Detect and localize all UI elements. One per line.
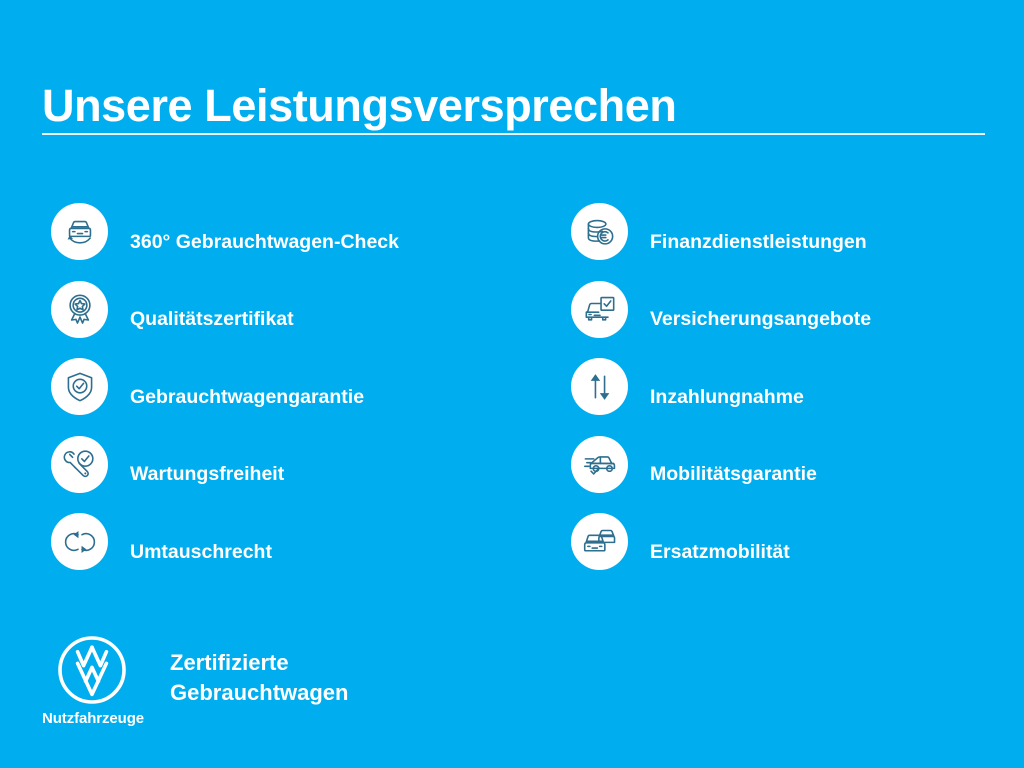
promise-item: Ersatzmobilität <box>571 513 1011 591</box>
brand-lockup: Nutzfahrzeuge Zertifizierte Gebrauchtwag… <box>42 634 642 744</box>
promise-label: Mobilitätsgarantie <box>650 462 817 486</box>
promise-item: Wartungsfreiheit <box>51 436 521 514</box>
coins-euro-icon <box>571 203 628 260</box>
page-title: Unsere Leistungsversprechen <box>42 82 676 129</box>
promise-item: Finanzdienstleistungen <box>571 203 1011 281</box>
promises-column-right: Finanzdienstleistungen <box>571 203 1011 591</box>
promise-item: Versicherungsangebote <box>571 281 1011 359</box>
promise-item: Umtauschrecht <box>51 513 521 591</box>
two-cars-icon <box>571 513 628 570</box>
brand-claim-line-2: Gebrauchtwagen <box>170 678 348 708</box>
promise-label: Umtauschrecht <box>130 540 272 564</box>
service-promises-slide: Unsere Leistungsversprechen <box>0 0 1024 768</box>
brand-claim: Zertifizierte Gebrauchtwagen <box>170 648 348 707</box>
volkswagen-logo-icon <box>56 634 128 706</box>
promise-label: Gebrauchtwagengarantie <box>130 385 364 409</box>
brand-wordmark: Nutzfahrzeuge <box>42 710 144 727</box>
exchange-arrows-icon <box>51 513 108 570</box>
promise-item: Gebrauchtwagengarantie <box>51 358 521 436</box>
promises-column-left: 360° Gebrauchtwagen-Check Qualitätszerti… <box>51 203 521 591</box>
shield-check-icon <box>51 358 108 415</box>
promise-item: Qualitätszertifikat <box>51 281 521 359</box>
car-document-check-icon <box>571 281 628 338</box>
wrench-check-icon <box>51 436 108 493</box>
promise-label: Versicherungsangebote <box>650 307 871 331</box>
promise-label: Ersatzmobilität <box>650 540 790 564</box>
header-divider <box>42 133 985 135</box>
brand-claim-line-1: Zertifizierte <box>170 648 348 678</box>
car-speed-lines-icon <box>571 436 628 493</box>
award-rosette-icon <box>51 281 108 338</box>
promise-item: Mobilitätsgarantie <box>571 436 1011 514</box>
promise-label: 360° Gebrauchtwagen-Check <box>130 230 399 254</box>
promise-item: Inzahlungnahme <box>571 358 1011 436</box>
promise-label: Finanzdienstleistungen <box>650 230 867 254</box>
promise-label: Inzahlungnahme <box>650 385 804 409</box>
car-360-check-icon <box>51 203 108 260</box>
promise-label: Qualitätszertifikat <box>130 307 294 331</box>
up-down-arrows-icon <box>571 358 628 415</box>
promise-item: 360° Gebrauchtwagen-Check <box>51 203 521 281</box>
promise-label: Wartungsfreiheit <box>130 462 284 486</box>
